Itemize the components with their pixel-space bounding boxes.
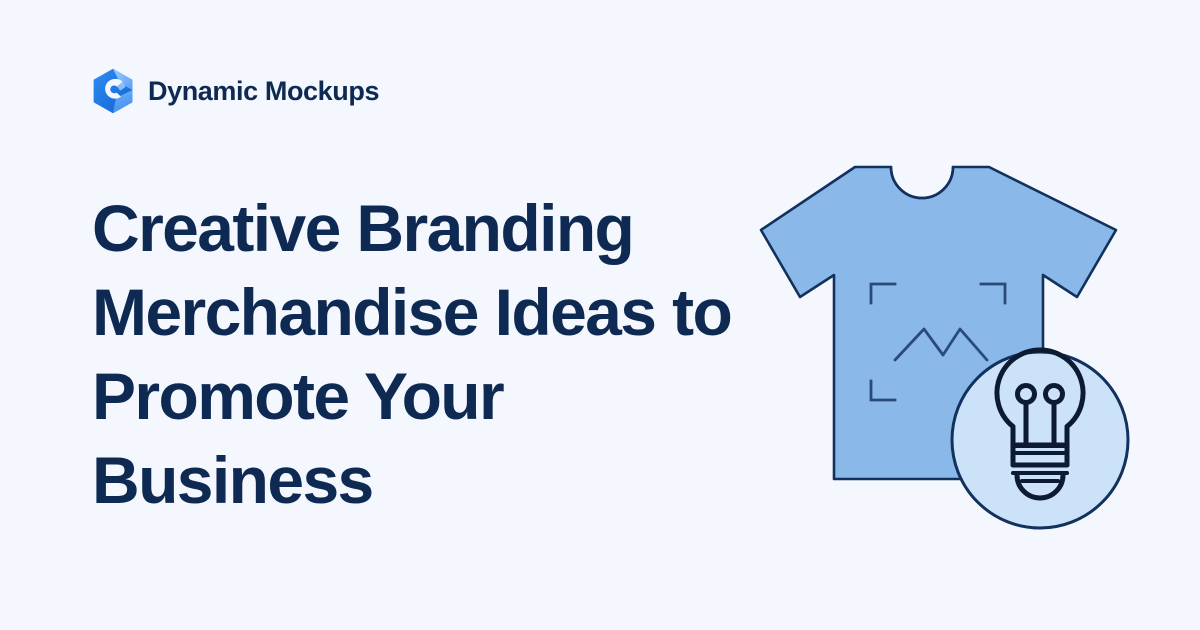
brand-lockup[interactable]: Dynamic Mockups xyxy=(92,68,379,114)
tshirt-illustration xyxy=(755,145,1145,535)
brand-name: Dynamic Mockups xyxy=(148,78,379,105)
lightbulb-badge xyxy=(952,350,1128,528)
poster-canvas: Dynamic Mockups Creative Branding Mercha… xyxy=(0,0,1200,630)
dynamic-mockups-logo-icon xyxy=(92,68,134,114)
page-title: Creative Branding Merchandise Ideas to P… xyxy=(92,186,752,523)
